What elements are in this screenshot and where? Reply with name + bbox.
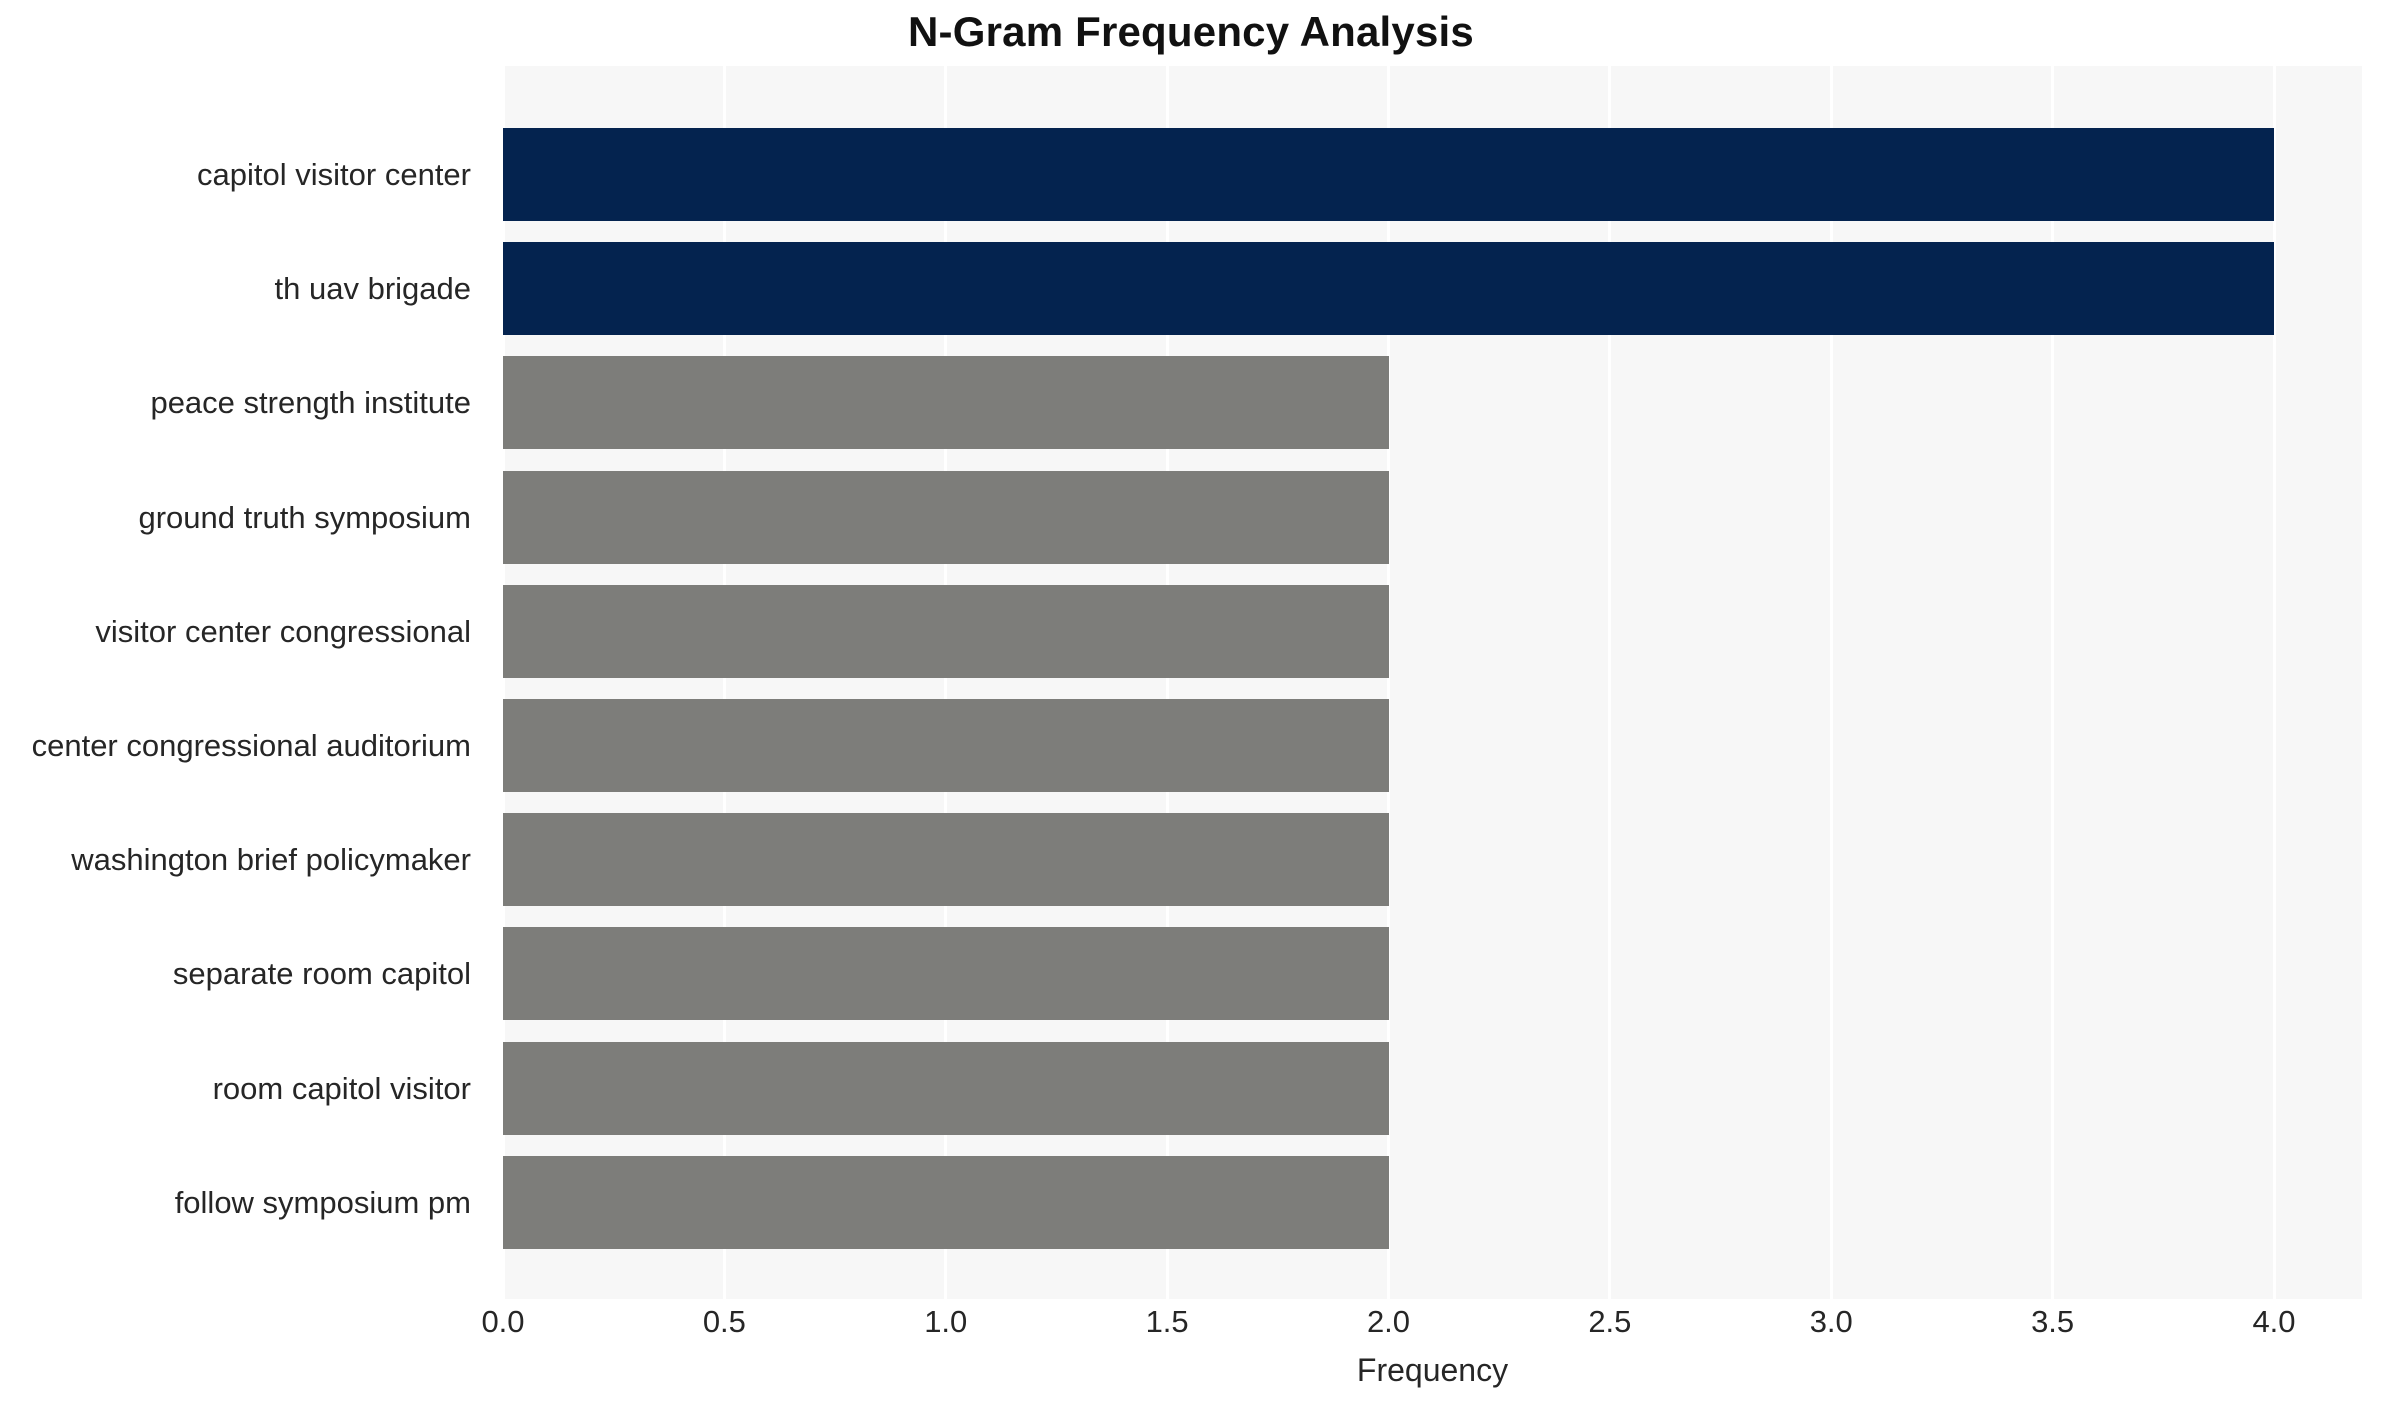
bar-fill: [503, 927, 1389, 1020]
bar[interactable]: [503, 1156, 1389, 1249]
chart-figure: N-Gram Frequency Analysis capitol visito…: [0, 0, 2382, 1402]
x-axis-tick-label: 2.0: [1367, 1304, 1410, 1340]
bars-layer: [503, 66, 2362, 1299]
bar-fill: [503, 356, 1389, 449]
y-axis-tick-label: visitor center congressional: [95, 585, 471, 678]
bar[interactable]: [503, 356, 1389, 449]
y-axis-tick-label: peace strength institute: [150, 356, 471, 449]
x-axis-title: Frequency: [503, 1352, 2362, 1389]
x-axis-tick-label: 4.0: [2252, 1304, 2295, 1340]
bar-fill: [503, 585, 1389, 678]
x-axis-tick-label: 1.5: [1146, 1304, 1189, 1340]
y-axis-tick-label: th uav brigade: [275, 242, 471, 335]
bar-fill: [503, 1042, 1389, 1135]
x-axis-tick-label: 3.5: [2031, 1304, 2074, 1340]
y-axis-tick-label: follow symposium pm: [175, 1156, 471, 1249]
bar[interactable]: [503, 128, 2274, 221]
y-axis-tick-label: separate room capitol: [173, 927, 471, 1020]
bar-fill: [503, 813, 1389, 906]
bar-fill: [503, 1156, 1389, 1249]
bar[interactable]: [503, 1042, 1389, 1135]
bar[interactable]: [503, 242, 2274, 335]
y-axis-tick-label: washington brief policymaker: [71, 813, 471, 906]
y-axis-tick-label: capitol visitor center: [197, 128, 471, 221]
chart-title: N-Gram Frequency Analysis: [0, 8, 2382, 56]
y-axis-tick-label: ground truth symposium: [138, 471, 471, 564]
x-axis-tick-label: 2.5: [1588, 1304, 1631, 1340]
y-axis-tick-label: center congressional auditorium: [32, 699, 471, 792]
bar-fill: [503, 699, 1389, 792]
bar[interactable]: [503, 471, 1389, 564]
y-axis-tick-label: room capitol visitor: [213, 1042, 471, 1135]
bar[interactable]: [503, 813, 1389, 906]
bar-fill: [503, 471, 1389, 564]
plot-area: [503, 66, 2362, 1299]
x-axis-tick-label: 0.5: [703, 1304, 746, 1340]
x-axis-tick-labels: 0.00.51.01.52.02.53.03.54.0: [503, 1304, 2362, 1350]
bar-fill: [503, 128, 2274, 221]
bar[interactable]: [503, 699, 1389, 792]
x-axis-tick-label: 0.0: [481, 1304, 524, 1340]
bar-fill: [503, 242, 2274, 335]
bar[interactable]: [503, 927, 1389, 1020]
y-axis-labels: capitol visitor centerth uav brigadepeac…: [0, 66, 487, 1299]
x-axis-tick-label: 1.0: [924, 1304, 967, 1340]
x-axis-tick-label: 3.0: [1810, 1304, 1853, 1340]
bar[interactable]: [503, 585, 1389, 678]
